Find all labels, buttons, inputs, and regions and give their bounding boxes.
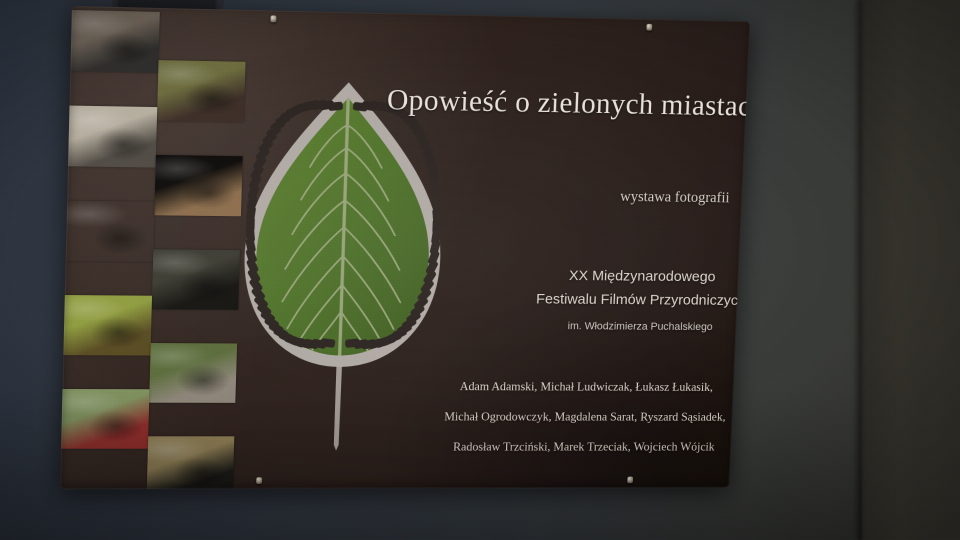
photo-scene: Opowieść o zielonych miastach wystawa fo… (0, 0, 960, 540)
image-grain (0, 0, 960, 540)
